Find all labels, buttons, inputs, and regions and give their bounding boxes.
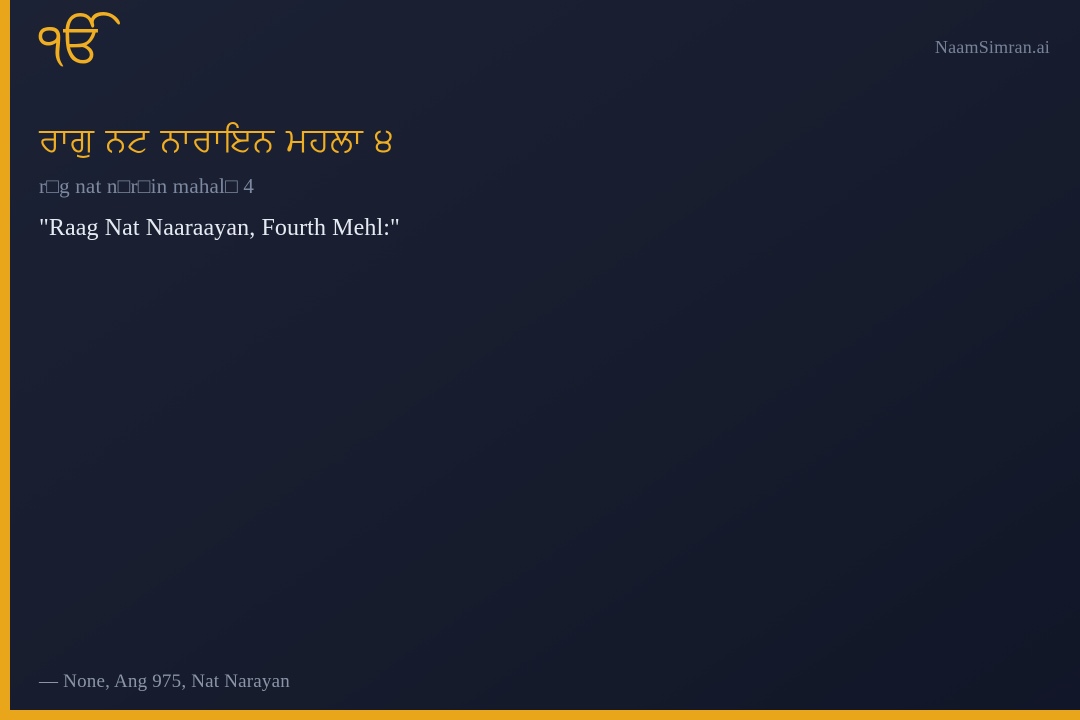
accent-border-left xyxy=(0,0,10,720)
translation-line: "Raag Nat Naaraayan, Fourth Mehl:" xyxy=(39,213,1039,243)
gurmukhi-line: ਰਾਗੁ ਨਟ ਨਾਰਾਇਨ ਮਹਲਾ ੪ xyxy=(39,120,1039,160)
transliteration-line: r□g nat n□r□in mahal□ 4 xyxy=(39,174,1039,199)
attribution-footer: — None, Ang 975, Nat Narayan xyxy=(39,672,290,691)
accent-border-bottom xyxy=(0,710,1080,720)
verse-block: ਰਾਗੁ ਨਟ ਨਾਰਾਇਨ ਮਹਲਾ ੪ r□g nat n□r□in mah… xyxy=(39,120,1039,243)
brand-label: NaamSimran.ai xyxy=(935,38,1050,56)
ik-onkar-icon: ੴ xyxy=(38,16,104,70)
shabad-card: ੴ NaamSimran.ai ਰਾਗੁ ਨਟ ਨਾਰਾਇਨ ਮਹਲਾ ੪ r□… xyxy=(0,0,1080,720)
